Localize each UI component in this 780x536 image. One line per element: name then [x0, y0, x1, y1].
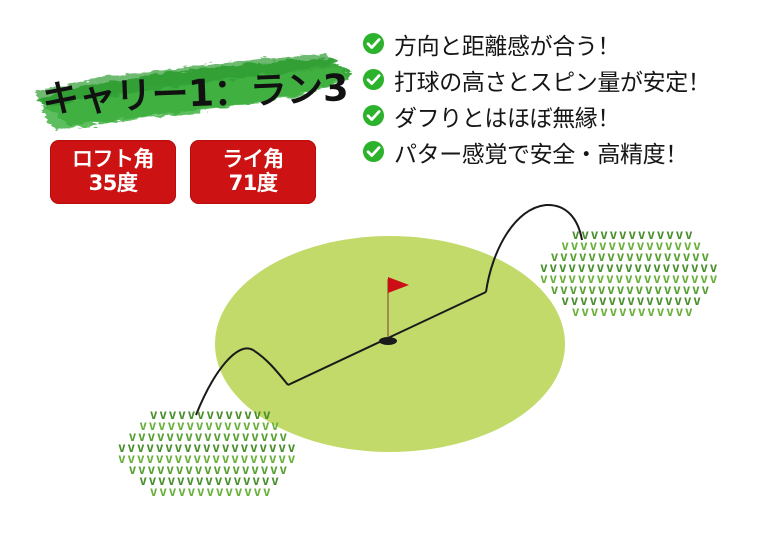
rough-bottom-left: vvvvvvvvvvvvvvvvvvvvvvvvvvvvvvvvvvvvvvvv…	[118, 410, 297, 498]
infographic-canvas: キャリー1：ラン3 ロフト角 35度 ライ角 71度 方向と距離感が合う！	[0, 0, 780, 536]
hole-cup	[379, 337, 397, 345]
rough-top-right: vvvvvvvvvvvvvvvvvvvvvvvvvvvvvvvvvvvvvvvv…	[540, 230, 719, 318]
